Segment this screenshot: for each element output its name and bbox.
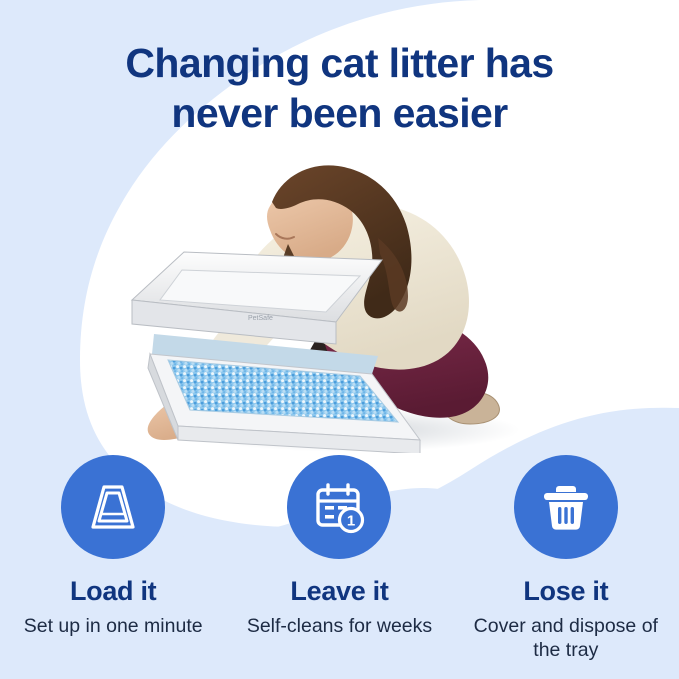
page-title: Changing cat litter has never been easie…	[0, 38, 679, 138]
feature-lose-it: Lose it Cover and dispose of the tray	[460, 455, 672, 663]
headline-line-1: Changing cat litter has	[0, 38, 679, 88]
feature-leave-it: 1 Leave it Self-cleans for weeks	[233, 455, 445, 638]
feature-load-it: Load it Set up in one minute	[7, 455, 219, 638]
feature-desc-1: Set up in one minute	[24, 614, 203, 639]
hero-illustration: PetSafe	[120, 148, 540, 453]
litter-tray-icon	[85, 479, 141, 535]
svg-text:1: 1	[347, 513, 355, 530]
feature-icon-badge-1	[61, 455, 165, 559]
feature-title-2: Leave it	[290, 577, 388, 607]
hero-photo: PetSafe	[120, 148, 540, 453]
feature-desc-2: Self-cleans for weeks	[247, 614, 432, 639]
headline-line-2: never been easier	[0, 88, 679, 138]
device-brand-label: PetSafe	[248, 315, 273, 322]
promo-infographic: Changing cat litter has never been easie…	[0, 0, 679, 679]
feature-icon-badge-2: 1	[287, 455, 391, 559]
feature-title-3: Lose it	[523, 577, 608, 607]
feature-desc-3: Cover and dispose of the tray	[471, 614, 661, 663]
feature-title-1: Load it	[70, 577, 156, 607]
feature-icon-badge-3	[514, 455, 618, 559]
trash-can-icon	[538, 479, 594, 535]
feature-row: Load it Set up in one minute 1 Leave it …	[0, 455, 679, 679]
calendar-one-icon: 1	[311, 479, 367, 535]
